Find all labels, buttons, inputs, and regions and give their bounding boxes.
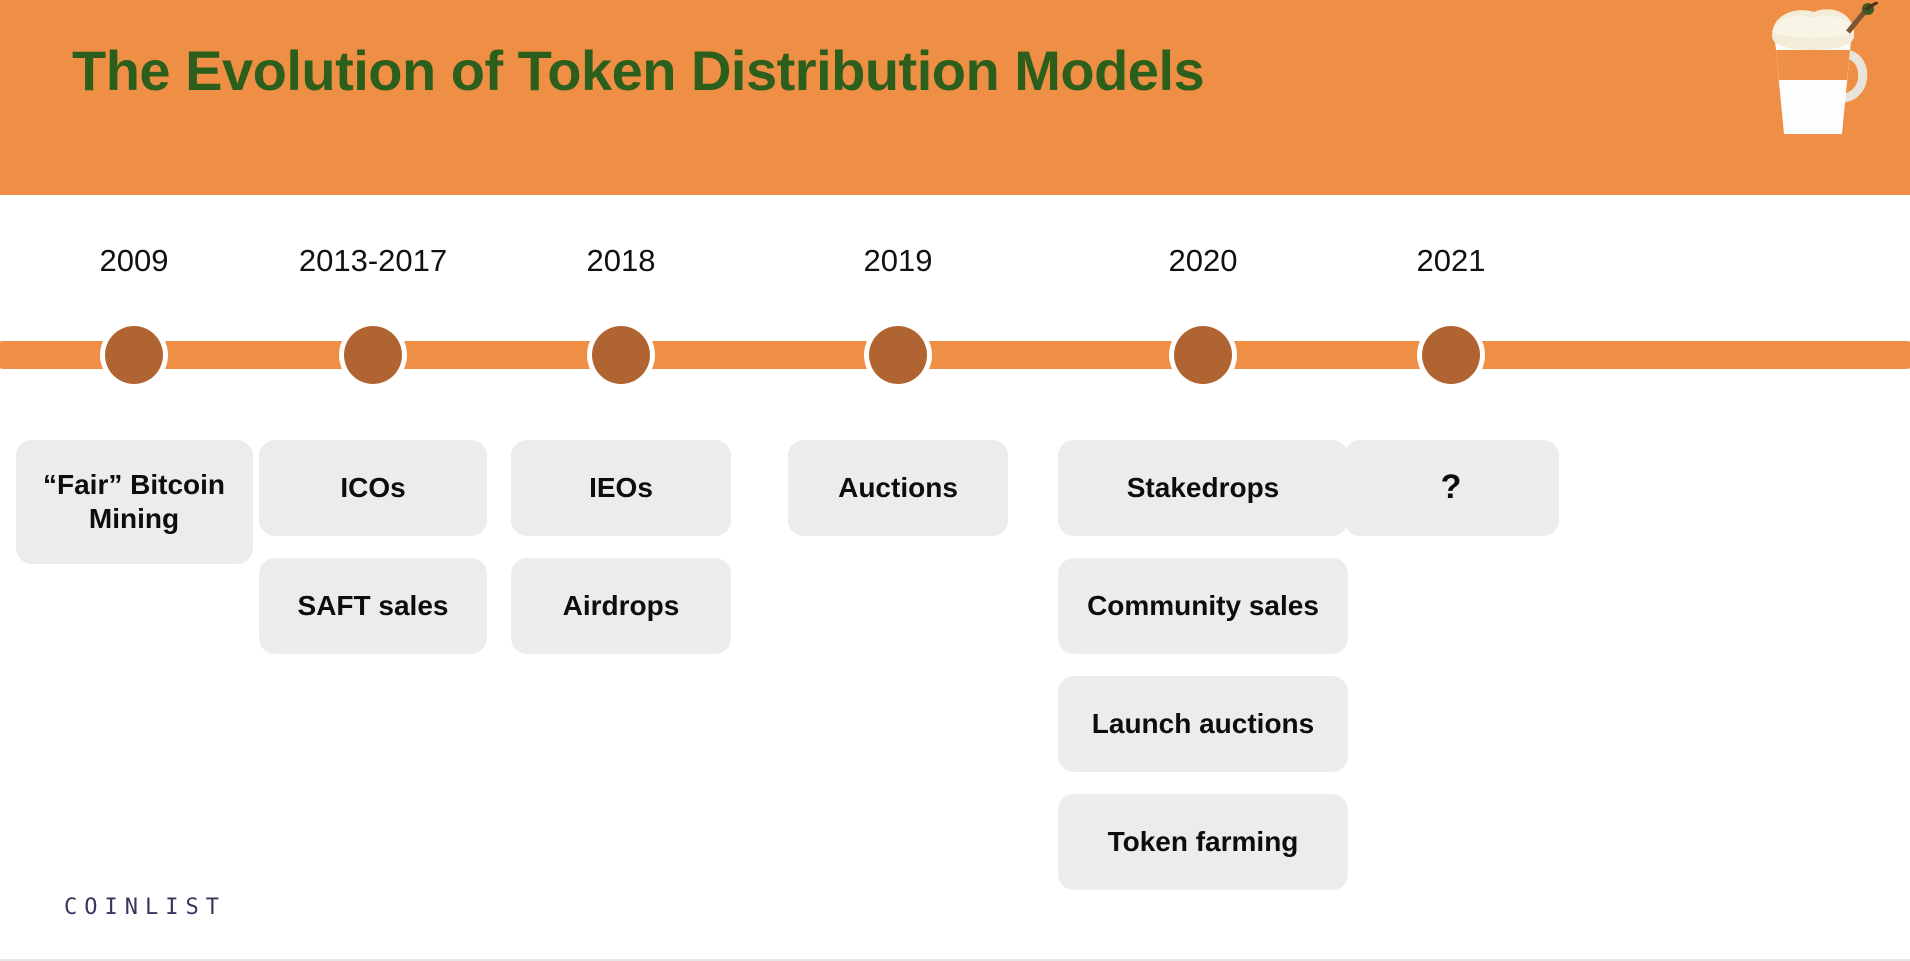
tick-dot	[1174, 326, 1232, 384]
timeline-tick-2020[interactable]	[1174, 326, 1232, 384]
infographic-canvas: The Evolution of Token Distribution Mode…	[0, 0, 1910, 961]
milestone-column-2021: ?	[1344, 440, 1559, 558]
card-distribution-model[interactable]: Stakedrops	[1058, 440, 1348, 536]
card-distribution-model[interactable]: SAFT sales	[259, 558, 487, 654]
timeline-tick-2021[interactable]	[1422, 326, 1480, 384]
milestone-column-2013-2017: ICOsSAFT sales	[259, 440, 487, 676]
card-distribution-model[interactable]: Community sales	[1058, 558, 1348, 654]
card-distribution-model[interactable]: “Fair” Bitcoin Mining	[16, 440, 253, 564]
tick-dot	[869, 326, 927, 384]
milestone-column-2018: IEOsAirdrops	[511, 440, 731, 676]
year-label-2019: 2019	[864, 243, 933, 279]
tick-dot	[1422, 326, 1480, 384]
card-distribution-model[interactable]: Token farming	[1058, 794, 1348, 890]
timeline-tick-2018[interactable]	[592, 326, 650, 384]
tick-dot	[592, 326, 650, 384]
timeline-tick-2009[interactable]	[105, 326, 163, 384]
card-distribution-model[interactable]: Airdrops	[511, 558, 731, 654]
timeline-bar	[0, 341, 1910, 369]
year-label-2009: 2009	[100, 243, 169, 279]
milestone-column-2009: “Fair” Bitcoin Mining	[16, 440, 253, 586]
card-unknown-future[interactable]: ?	[1344, 440, 1559, 536]
milestone-column-2019: Auctions	[788, 440, 1008, 558]
latte-cup-icon	[1748, 2, 1878, 142]
tick-dot	[105, 326, 163, 384]
card-distribution-model[interactable]: Auctions	[788, 440, 1008, 536]
card-distribution-model[interactable]: ICOs	[259, 440, 487, 536]
card-distribution-model[interactable]: Launch auctions	[1058, 676, 1348, 772]
year-label-2013-2017: 2013-2017	[299, 243, 447, 279]
year-label-2018: 2018	[587, 243, 656, 279]
milestone-column-2020: StakedropsCommunity salesLaunch auctions…	[1058, 440, 1348, 912]
timeline-tick-2013-2017[interactable]	[344, 326, 402, 384]
coinlist-logo: COINLIST	[64, 895, 226, 920]
year-label-2020: 2020	[1169, 243, 1238, 279]
timeline-tick-2019[interactable]	[869, 326, 927, 384]
year-label-2021: 2021	[1417, 243, 1486, 279]
card-distribution-model[interactable]: IEOs	[511, 440, 731, 536]
header-band: The Evolution of Token Distribution Mode…	[0, 0, 1910, 195]
tick-dot	[344, 326, 402, 384]
page-title: The Evolution of Token Distribution Mode…	[72, 40, 1204, 102]
